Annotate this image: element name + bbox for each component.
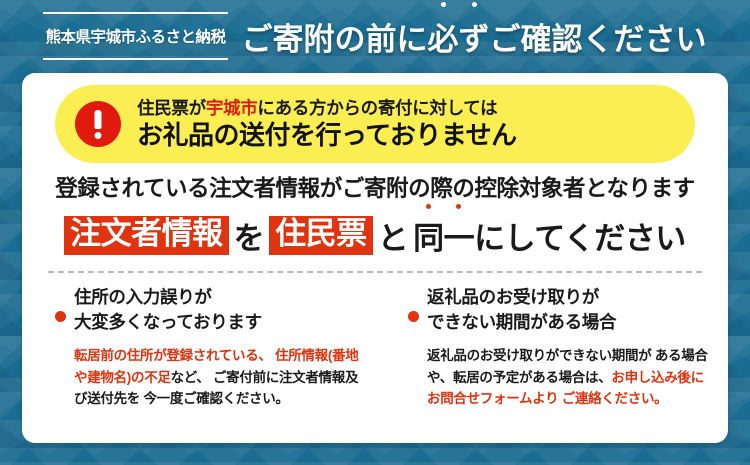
statement-tail: にしてください (474, 213, 686, 258)
bullet-dot-icon (55, 311, 66, 322)
alert-subtitle-highlight: 宇城市 (206, 98, 258, 118)
statement-chip-orderer-info: 注文者情報 (64, 216, 229, 255)
statement-emphasis-text: 同一 (413, 221, 474, 256)
notice-columns: 住所の入力誤りが 大変多くなっております 転居前の住所が登録されている、 住所情… (22, 285, 728, 410)
statement-chip-residence-certificate: 住民票 (269, 216, 373, 255)
statement-line-1: 登録されている注文者情報がご寄附の際の控除対象者となります (22, 171, 728, 203)
notice-column-delivery-window: 返礼品のお受け取りが できない期間がある場合 返礼品のお受け取りができない期間が… (375, 285, 728, 410)
column-title: 住所の入力誤りが 大変多くなっております (74, 285, 361, 336)
column-body: 返礼品のお受け取りができない期間が ある場合や、転居の予定がある場合は、お申し込… (427, 345, 714, 411)
alert-subtitle-part1: 住民票が (137, 98, 206, 118)
headline-emphasis-text: 必ず (428, 22, 490, 57)
exclamation-icon (75, 101, 121, 147)
notice-column-address-errors: 住所の入力誤りが 大変多くなっております 転居前の住所が登録されている、 住所情… (22, 285, 375, 410)
alert-subtitle-part2: にある方からの寄付に対しては (257, 98, 497, 118)
statement-connector-2: と (373, 213, 414, 258)
headline-emphasis: 必ず (428, 14, 490, 59)
column-body: 転居前の住所が登録されている、 住所情報(番地や建物名)の不足など、 ご寄付前に… (74, 345, 361, 411)
notice-card: 住民票が宇城市にある方からの寄付に対しては お礼品の送付を行っておりません 登録… (22, 73, 728, 443)
municipality-kicker: 熊本県宇城市ふるさと納税 (43, 18, 227, 54)
statement-block: 登録されている注文者情報がご寄附の際の控除対象者となります 注文者情報を住民票と… (22, 171, 728, 258)
headline-text-before: ご寄附の前に (242, 14, 428, 59)
bullet-dot-icon (408, 311, 419, 322)
notice-banner: 熊本県宇城市ふるさと納税 ご寄附の前に必ずご確認ください 住民票が宇城市にある方… (0, 0, 750, 465)
banner-header: 熊本県宇城市ふるさと納税 ご寄附の前に必ずご確認ください (0, 0, 750, 72)
emphasis-dots-icon (428, 2, 490, 7)
headline-text-after: ご確認ください (490, 14, 707, 59)
statement-emphasis: 同一 (413, 213, 474, 258)
alert-banner: 住民票が宇城市にある方からの寄付に対しては お礼品の送付を行っておりません (55, 85, 695, 163)
statement-line-2: 注文者情報を住民票と同一にしてください (22, 213, 728, 258)
alert-subtitle: 住民票が宇城市にある方からの寄付に対しては (137, 99, 517, 117)
column-title: 返礼品のお受け取りが できない期間がある場合 (427, 285, 714, 336)
alert-text-block: 住民票が宇城市にある方からの寄付に対しては お礼品の送付を行っておりません (137, 99, 517, 149)
statement-connector-1: を (229, 213, 270, 258)
emphasis-dots-icon (413, 204, 474, 209)
alert-title: お礼品の送付を行っておりません (137, 122, 517, 149)
banner-headline: ご寄附の前に必ずご確認ください (242, 14, 707, 59)
section-divider (48, 271, 702, 273)
